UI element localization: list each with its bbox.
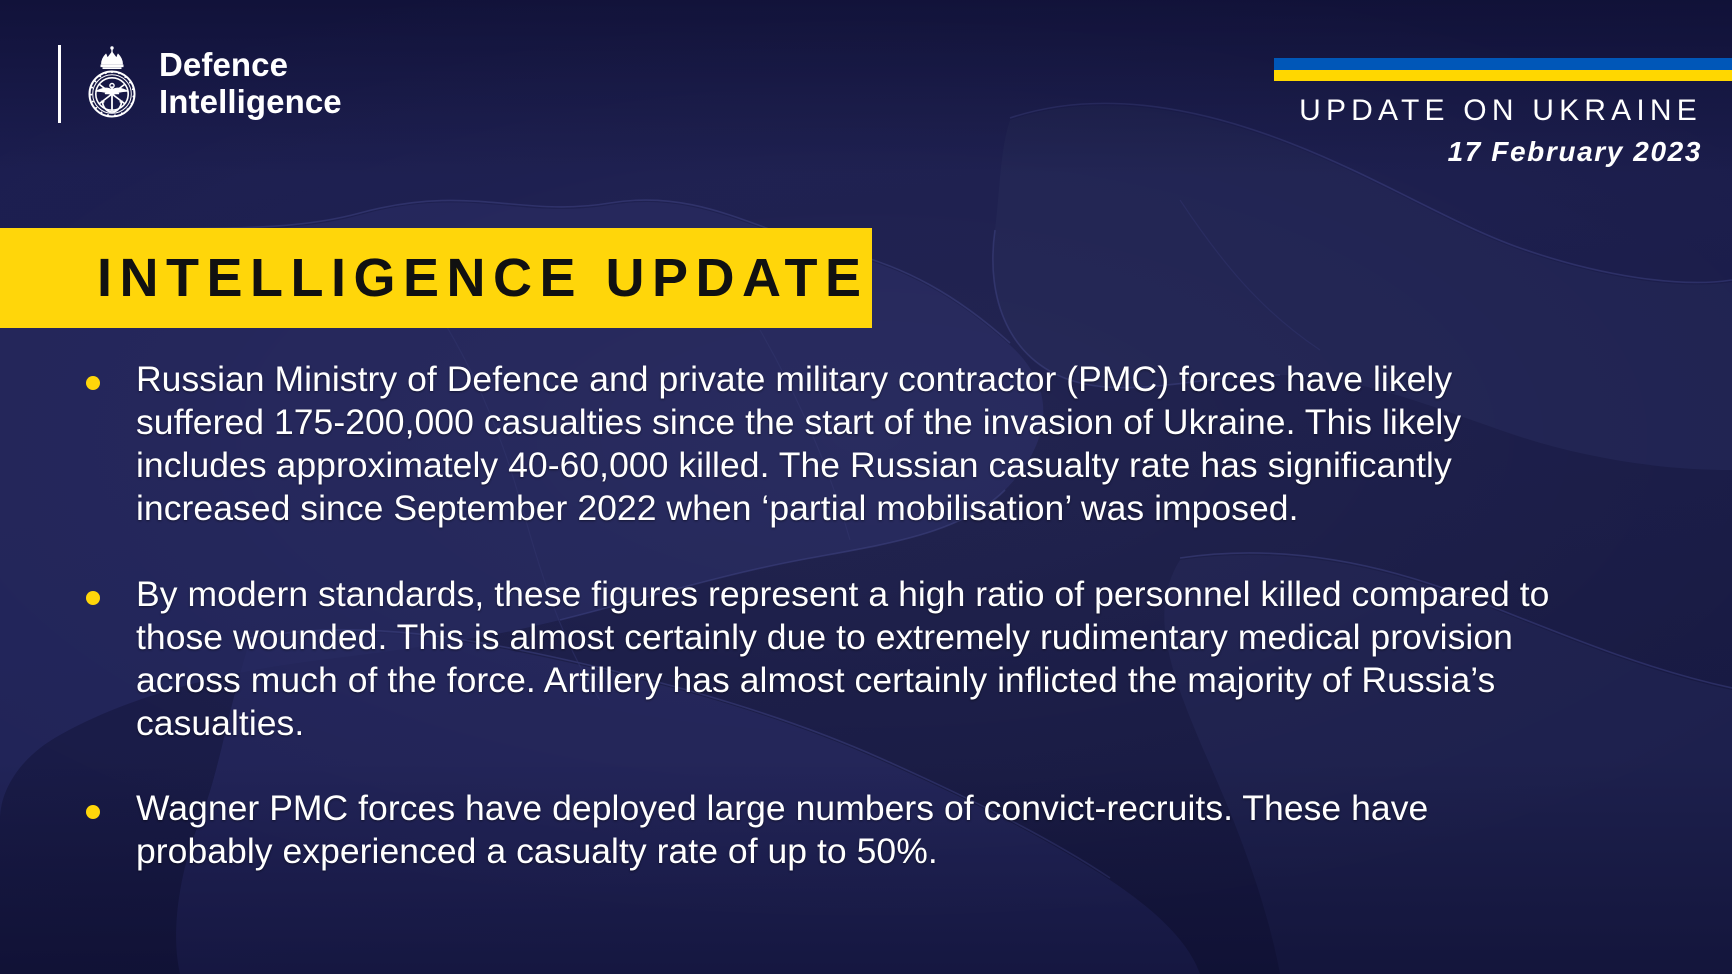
flag-stripe-blue — [1274, 58, 1732, 70]
ukraine-flag-bar — [1274, 58, 1732, 81]
bullet-list: Russian Ministry of Defence and private … — [86, 358, 1666, 873]
flag-stripe-yellow — [1274, 70, 1732, 82]
defence-intelligence-logo: Defence Intelligence — [58, 38, 342, 130]
bullet-dot-icon — [86, 591, 100, 605]
list-item: Russian Ministry of Defence and private … — [86, 358, 1666, 531]
intelligence-update-slide: Defence Intelligence UPDATE ON UKRAINE 1… — [0, 0, 1732, 974]
intelligence-update-banner: INTELLIGENCE UPDATE — [0, 228, 872, 328]
bullet-text: Russian Ministry of Defence and private … — [136, 358, 1556, 531]
update-date: 17 February 2023 — [1299, 135, 1702, 169]
logo-wordmark: Defence Intelligence — [159, 47, 342, 121]
banner-title: INTELLIGENCE UPDATE — [97, 251, 869, 305]
logo-line-intelligence: Intelligence — [159, 84, 342, 121]
list-item: By modern standards, these figures repre… — [86, 573, 1666, 746]
update-kicker: UPDATE ON UKRAINE — [1299, 92, 1702, 130]
logo-line-defence: Defence — [159, 47, 342, 84]
bullet-text: By modern standards, these figures repre… — [136, 573, 1556, 746]
mod-crest-icon — [83, 44, 141, 124]
bullet-dot-icon — [86, 376, 100, 390]
list-item: Wagner PMC forces have deployed large nu… — [86, 787, 1666, 873]
bullet-text: Wagner PMC forces have deployed large nu… — [136, 787, 1556, 873]
logo-divider-rule — [58, 45, 61, 123]
bullet-dot-icon — [86, 805, 100, 819]
header-right-block: UPDATE ON UKRAINE 17 February 2023 — [1299, 92, 1702, 168]
